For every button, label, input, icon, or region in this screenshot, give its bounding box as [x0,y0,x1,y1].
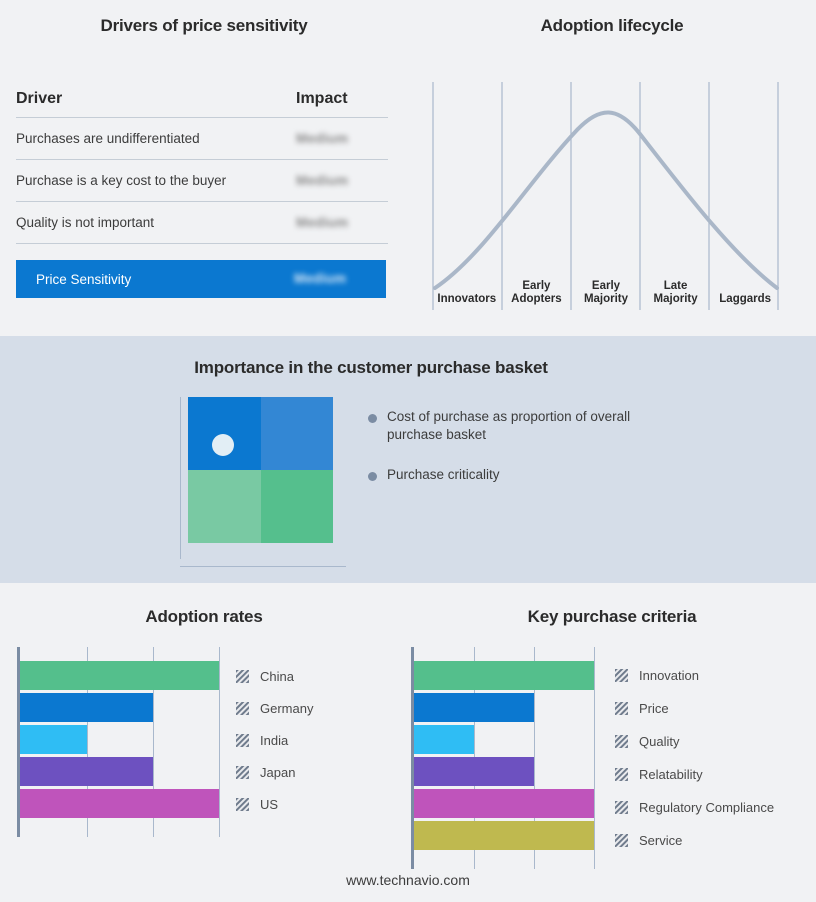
legend-item-service: Service [615,833,682,848]
adoption-lifecycle-title: Adoption lifecycle [408,16,816,36]
legend-item-relatability: Relatability [615,767,703,782]
quadrant-bottom-right [261,470,334,543]
bar-service [414,821,594,850]
drivers-panel: Drivers of price sensitivity Driver Impa… [0,0,408,336]
importance-panel-title: Importance in the customer purchase bask… [0,358,742,378]
summary-row-label: Price Sensitivity [36,272,294,287]
hatch-swatch-icon [236,766,249,779]
legend-item-japan: Japan [236,765,295,780]
hatch-swatch-icon [615,834,628,847]
importance-panel: Importance in the customer purchase bask… [0,336,816,583]
driver-label: Purchase is a key cost to the buyer [16,173,296,188]
adoption-rates-legend: China Germany India Japan [236,647,396,837]
bullet-icon [368,414,377,423]
segment-label-line: Early [522,280,550,293]
quadrant-x-axis [180,566,346,567]
adoption-lifecycle-category-labels: Innovators Early Adopters Early Majority… [432,270,780,310]
quadrant-chart [180,397,346,567]
hatch-swatch-icon [615,669,628,682]
segment-label-line: Late [664,280,688,293]
footer-url: www.technavio.com [0,872,816,888]
legend-item-india: India [236,733,288,748]
adoption-rates-bars [20,647,222,837]
bar-innovation [414,661,594,690]
impact-value-cell: Medium [296,172,388,190]
column-header-driver: Driver [16,90,296,108]
legend-label: Service [639,833,682,848]
hatch-swatch-icon [236,702,249,715]
hatch-swatch-icon [236,734,249,747]
hatch-swatch-icon [236,798,249,811]
legend-label: China [260,669,294,684]
legend-label: India [260,733,288,748]
purchase-criteria-bars [414,647,600,869]
quadrant-position-marker [212,434,234,456]
price-sensitivity-summary-row: Price Sensitivity Medium [16,260,386,298]
lifecycle-segment-early-majority: Early Majority [571,270,641,310]
adoption-rates-panel: Adoption rates China [0,583,408,902]
bullet-icon [368,472,377,481]
purchase-criteria-title: Key purchase criteria [408,607,816,627]
list-item: Cost of purchase as proportion of overal… [368,408,668,444]
bar-germany [20,693,153,722]
legend-item-price: Price [615,701,669,716]
impact-value-cell: Medium [296,130,388,148]
bar-price [414,693,534,722]
legend-item-regulatory-compliance: Regulatory Compliance [615,800,774,815]
legend-label: US [260,797,278,812]
table-row: Purchase is a key cost to the buyer Medi… [16,160,388,202]
hatch-swatch-icon [615,801,628,814]
hatch-swatch-icon [615,702,628,715]
purchase-criteria-panel: Key purchase criteria Innovation [408,583,816,902]
bar-relatability [414,757,534,786]
quadrant-y-axis [180,397,181,559]
adoption-rates-title: Adoption rates [0,607,408,627]
segment-label-line: Laggards [719,293,771,306]
purchase-criteria-chart [411,647,600,869]
drivers-table-header: Driver Impact [16,90,388,118]
driver-label: Quality is not important [16,215,296,230]
table-row: Purchases are undifferentiated Medium [16,118,388,160]
bar-china [20,661,219,690]
legend-item-quality: Quality [615,734,679,749]
lifecycle-segment-innovators: Innovators [432,270,502,310]
purchase-criteria-legend: Innovation Price Quality Relatability [615,647,810,869]
quadrant-top-right [261,397,334,470]
bar-regulatory-compliance [414,789,594,818]
lifecycle-segment-laggards: Laggards [710,270,780,310]
bar-india [20,725,87,754]
drivers-table: Driver Impact Purchases are undifferenti… [16,90,388,298]
drivers-panel-title: Drivers of price sensitivity [0,16,408,36]
legend-label: Purchase criticality [387,466,500,484]
legend-item-china: China [236,669,294,684]
impact-value-redacted: Medium [294,271,346,286]
segment-label-line: Early [592,280,620,293]
lifecycle-segment-late-majority: Late Majority [641,270,711,310]
legend-label: Innovation [639,668,699,683]
bar-japan [20,757,153,786]
segment-label-line: Majority [654,293,698,306]
bar-quality [414,725,474,754]
legend-label: Japan [260,765,295,780]
segment-label-line: Innovators [437,293,496,306]
infographic-page: Drivers of price sensitivity Driver Impa… [0,0,816,902]
importance-legend: Cost of purchase as proportion of overal… [368,408,668,507]
segment-label-line: Majority [584,293,628,306]
segment-label-line: Adopters [511,293,561,306]
adoption-lifecycle-panel: Adoption lifecycle Innovators Early [408,0,816,336]
bar-us [20,789,219,818]
table-row: Quality is not important Medium [16,202,388,244]
legend-label: Germany [260,701,313,716]
legend-item-innovation: Innovation [615,668,699,683]
adoption-curve-line [435,112,777,288]
impact-value-cell: Medium [296,214,388,232]
lifecycle-segment-early-adopters: Early Adopters [502,270,572,310]
summary-impact-cell: Medium [294,270,386,288]
legend-item-us: US [236,797,278,812]
adoption-rates-chart [17,647,222,837]
legend-label: Relatability [639,767,703,782]
list-item: Purchase criticality [368,466,668,484]
impact-value-redacted: Medium [296,131,348,146]
driver-label: Purchases are undifferentiated [16,131,296,146]
legend-label: Cost of purchase as proportion of overal… [387,408,645,444]
legend-label: Quality [639,734,679,749]
quadrant-grid [188,397,333,543]
impact-value-redacted: Medium [296,215,348,230]
hatch-swatch-icon [615,735,628,748]
impact-value-redacted: Medium [296,173,348,188]
quadrant-bottom-left [188,470,261,543]
legend-label: Price [639,701,669,716]
legend-item-germany: Germany [236,701,313,716]
hatch-swatch-icon [236,670,249,683]
hatch-swatch-icon [615,768,628,781]
column-header-impact: Impact [296,90,388,108]
legend-label: Regulatory Compliance [639,800,774,815]
